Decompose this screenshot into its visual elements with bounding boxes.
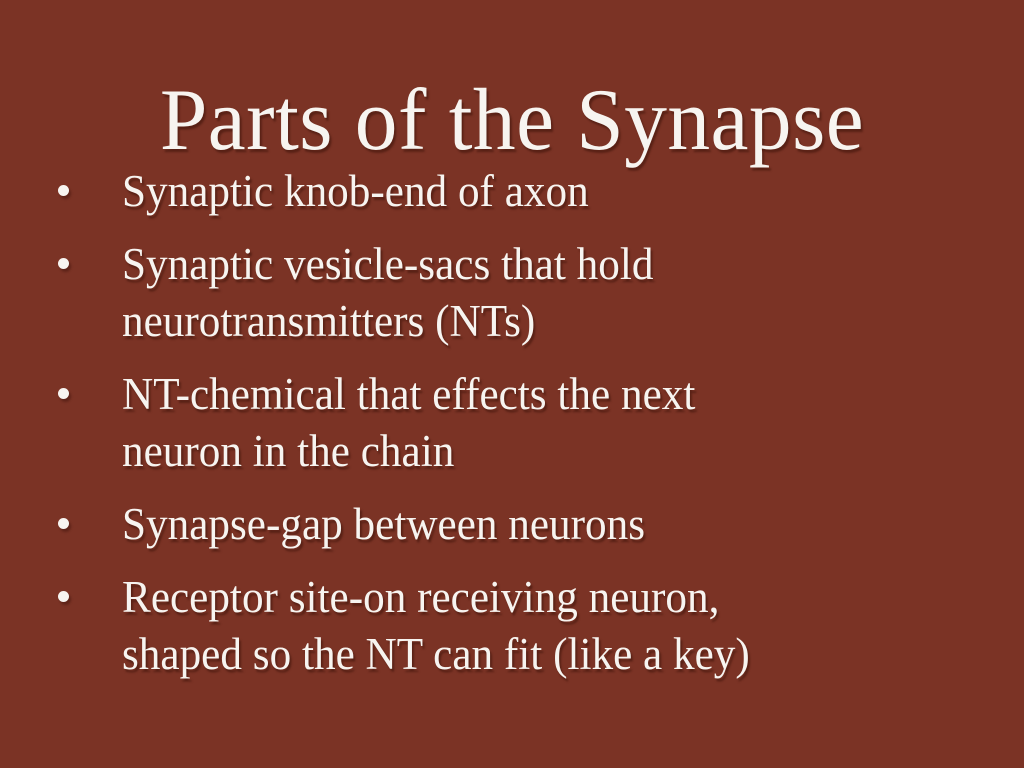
bullet-dot-icon [58,185,69,196]
list-item: Receptor site-on receiving neuron, shape… [48,569,978,683]
bullet-dot-icon [58,591,69,602]
list-item: NT-chemical that effects the next neuron… [48,366,978,480]
bullet-list: Synaptic knob-end of axon Synaptic vesic… [48,163,978,683]
list-item-text: Receptor site-on receiving neuron, shape… [122,569,944,683]
page-title: Parts of the Synapse [15,69,1008,173]
bullet-dot-icon [58,258,69,269]
list-item-text: Synaptic knob-end of axon [122,163,944,220]
bullet-dot-icon [58,518,69,529]
list-item-text: NT-chemical that effects the next neuron… [122,366,944,480]
bullet-dot-icon [58,388,69,399]
presentation-slide: Parts of the Synapse Synaptic knob-end o… [0,0,1024,768]
list-item: Synaptic vesicle-sacs that hold neurotra… [48,236,978,350]
list-item: Synapse-gap between neurons [48,496,978,553]
list-item-text: Synapse-gap between neurons [122,496,944,553]
list-item-text: Synaptic vesicle-sacs that hold neurotra… [122,236,944,350]
list-item: Synaptic knob-end of axon [48,163,978,220]
